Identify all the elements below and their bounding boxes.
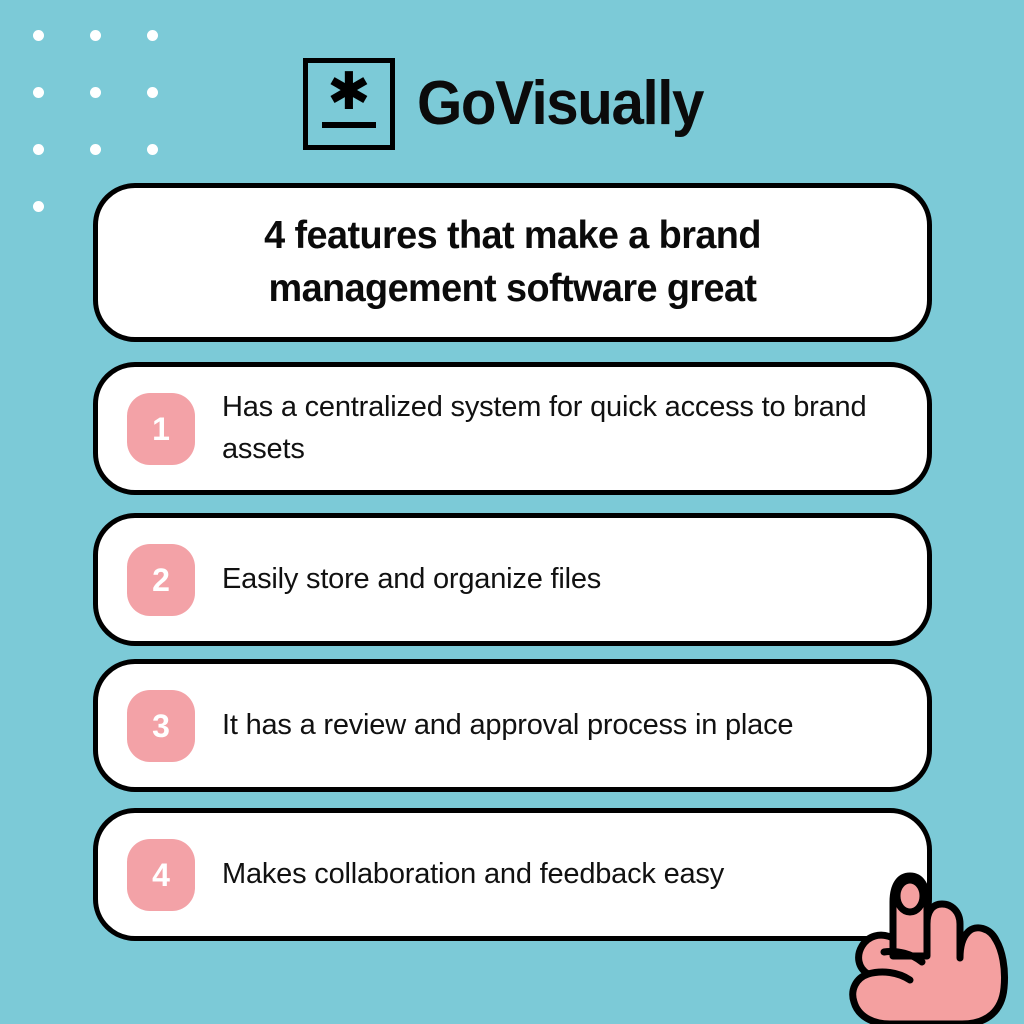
brand-name: GoVisually <box>417 73 703 135</box>
decorative-dot <box>90 30 101 41</box>
asterisk-icon: ✱ <box>308 66 390 118</box>
feature-card-3[interactable]: 3 It has a review and approval process i… <box>93 659 932 792</box>
feature-card-2[interactable]: 2 Easily store and organize files <box>93 513 932 646</box>
feature-number-badge: 4 <box>127 839 195 911</box>
feature-text: It has a review and approval process in … <box>222 705 793 746</box>
decorative-dot <box>147 30 158 41</box>
govisually-logo-icon: ✱ <box>303 58 395 150</box>
feature-number-badge: 3 <box>127 690 195 762</box>
logo-underline <box>322 122 376 128</box>
feature-card-1[interactable]: 1 Has a centralized system for quick acc… <box>93 362 932 495</box>
brand-header: ✱ GoVisually <box>0 52 1024 156</box>
decorative-dot <box>33 201 44 212</box>
feature-number-badge: 1 <box>127 393 195 465</box>
feature-text: Makes collaboration and feedback easy <box>222 854 724 895</box>
page-title: 4 features that make a brand management … <box>165 210 860 315</box>
feature-text: Easily store and organize files <box>222 559 601 600</box>
feature-number-badge: 2 <box>127 544 195 616</box>
title-card: 4 features that make a brand management … <box>93 183 932 342</box>
feature-card-4[interactable]: 4 Makes collaboration and feedback easy <box>93 808 932 941</box>
feature-text: Has a centralized system for quick acces… <box>222 387 882 469</box>
infographic-canvas: ✱ GoVisually 4 features that make a bran… <box>0 0 1024 1024</box>
decorative-dot <box>33 30 44 41</box>
